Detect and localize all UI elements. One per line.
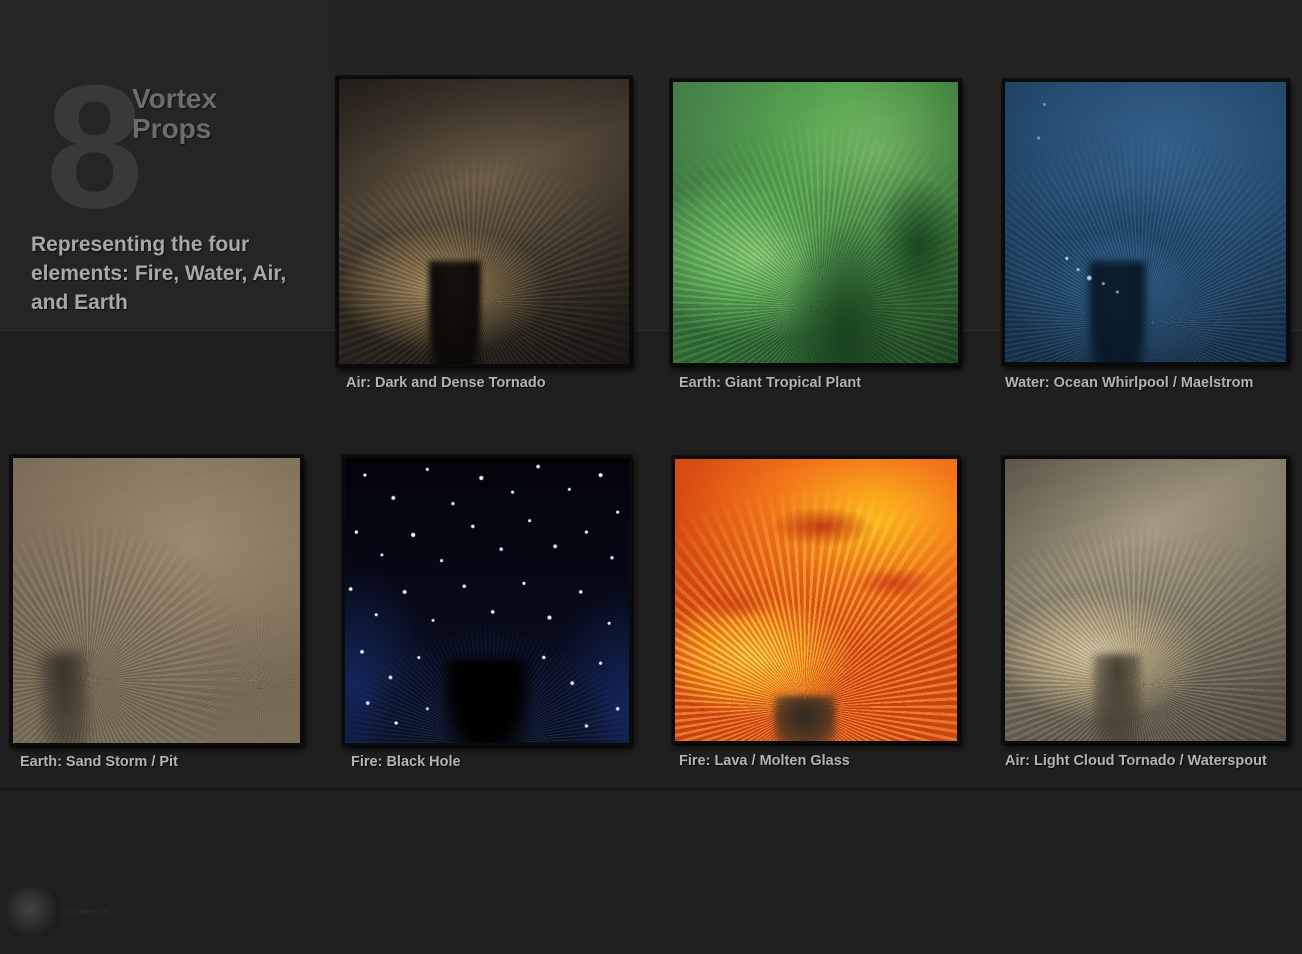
image-frame[interactable]: [10, 455, 303, 746]
watermark: •••••••: [8, 888, 110, 936]
vortex-air-dark-image: [339, 79, 629, 364]
image-frame[interactable]: [672, 456, 960, 744]
vortex-lava-image: [675, 459, 957, 741]
vortex-blackhole-image: [345, 458, 629, 743]
logo-icon: [8, 888, 60, 936]
image-frame[interactable]: [670, 79, 961, 366]
title-line-1: Vortex: [132, 84, 217, 114]
vortex-air-light-image: [1005, 459, 1286, 741]
slide-number: 8: [46, 60, 137, 235]
image-caption: Fire: Black Hole: [351, 754, 461, 770]
image-caption: Fire: Lava / Molten Glass: [679, 753, 850, 769]
vortex-plant-image: [673, 82, 958, 363]
watermark-label: •••••••: [66, 904, 110, 921]
image-caption: Water: Ocean Whirlpool / Maelstrom: [1005, 375, 1253, 391]
vortex-sand-image: [13, 458, 300, 743]
background-separator: [0, 788, 1302, 791]
page-title: Vortex Props: [132, 84, 217, 144]
image-frame[interactable]: [336, 76, 632, 367]
image-caption: Air: Light Cloud Tornado / Waterspout: [1005, 753, 1267, 769]
image-caption: Air: Dark and Dense Tornado: [346, 375, 546, 391]
image-frame[interactable]: [1002, 456, 1289, 744]
background-band-bottom: [0, 791, 1302, 954]
image-caption: Earth: Giant Tropical Plant: [679, 375, 861, 391]
image-frame[interactable]: [342, 455, 632, 746]
image-caption: Earth: Sand Storm / Pit: [20, 754, 178, 770]
vortex-water-image: [1005, 82, 1286, 362]
slide-canvas: 8 Vortex Props Representing the four ele…: [0, 0, 1302, 954]
title-line-2: Props: [132, 114, 217, 144]
page-subtitle: Representing the four elements: Fire, Wa…: [31, 230, 321, 317]
image-frame[interactable]: [1002, 79, 1289, 365]
